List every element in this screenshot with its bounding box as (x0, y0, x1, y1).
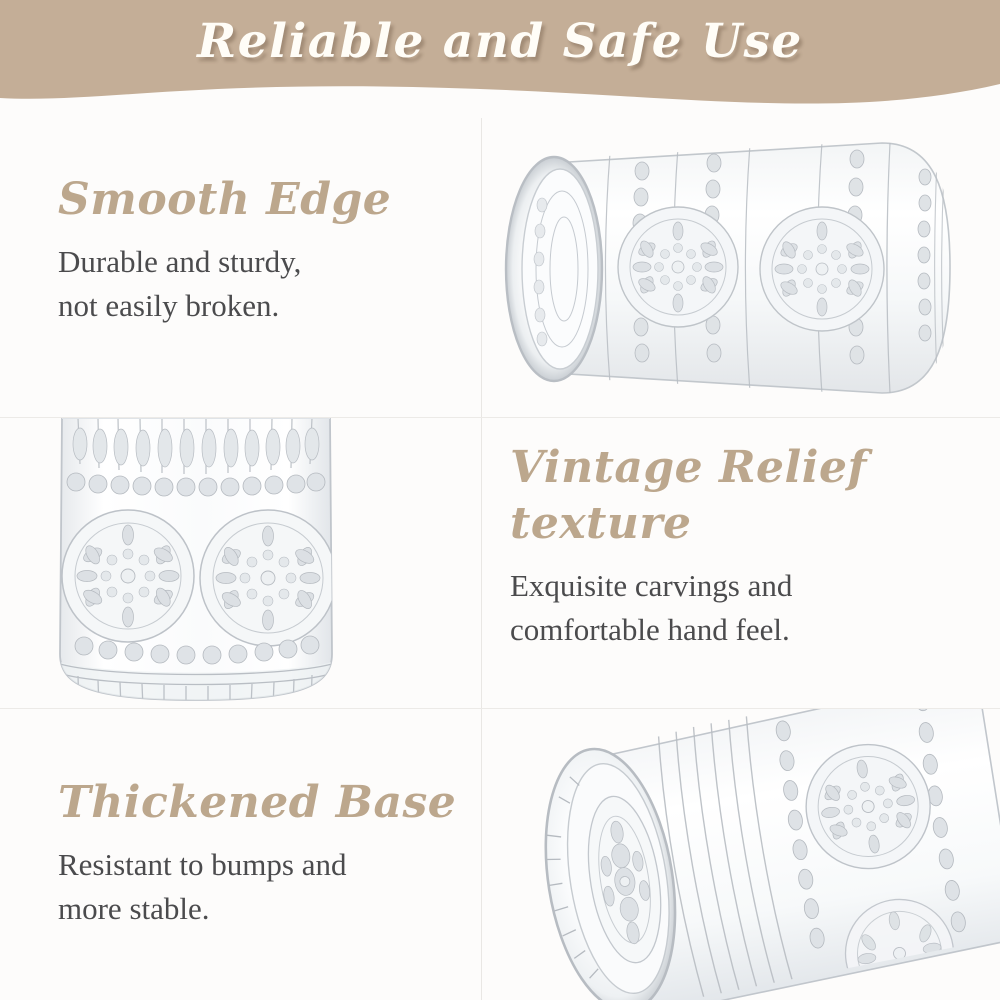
page-title: Reliable and Safe Use (0, 14, 1000, 69)
glass-tumbler-side-icon (482, 119, 1000, 417)
feature-thickened-base-text: Thickened Base Resistant to bumps and mo… (58, 775, 478, 931)
glass-tumbler-upright-icon (0, 418, 481, 708)
feature-smooth-edge-text: Smooth Edge Durable and sturdy, not easi… (58, 172, 458, 328)
header-banner: Reliable and Safe Use (0, 0, 1000, 118)
feature-thickened-base-body: Resistant to bumps and more stable. (58, 843, 478, 931)
feature-smooth-edge-body: Durable and sturdy, not easily broken. (58, 240, 458, 328)
feature-smooth-edge-image (482, 119, 1000, 417)
feature-thickened-base-image (482, 709, 1000, 1000)
glass-tumbler-base-icon (482, 709, 1000, 1000)
feature-vintage-relief-text: Vintage Relief texture Exquisite carving… (510, 440, 940, 652)
feature-vintage-relief-image (0, 418, 481, 708)
feature-smooth-edge-heading: Smooth Edge (58, 172, 458, 228)
infographic-page: Reliable and Safe Use Smooth Edge Durabl… (0, 0, 1000, 1000)
feature-vintage-relief-heading: Vintage Relief texture (510, 440, 940, 552)
feature-vintage-relief-body: Exquisite carvings and comfortable hand … (510, 564, 940, 652)
feature-thickened-base-heading: Thickened Base (58, 775, 478, 831)
